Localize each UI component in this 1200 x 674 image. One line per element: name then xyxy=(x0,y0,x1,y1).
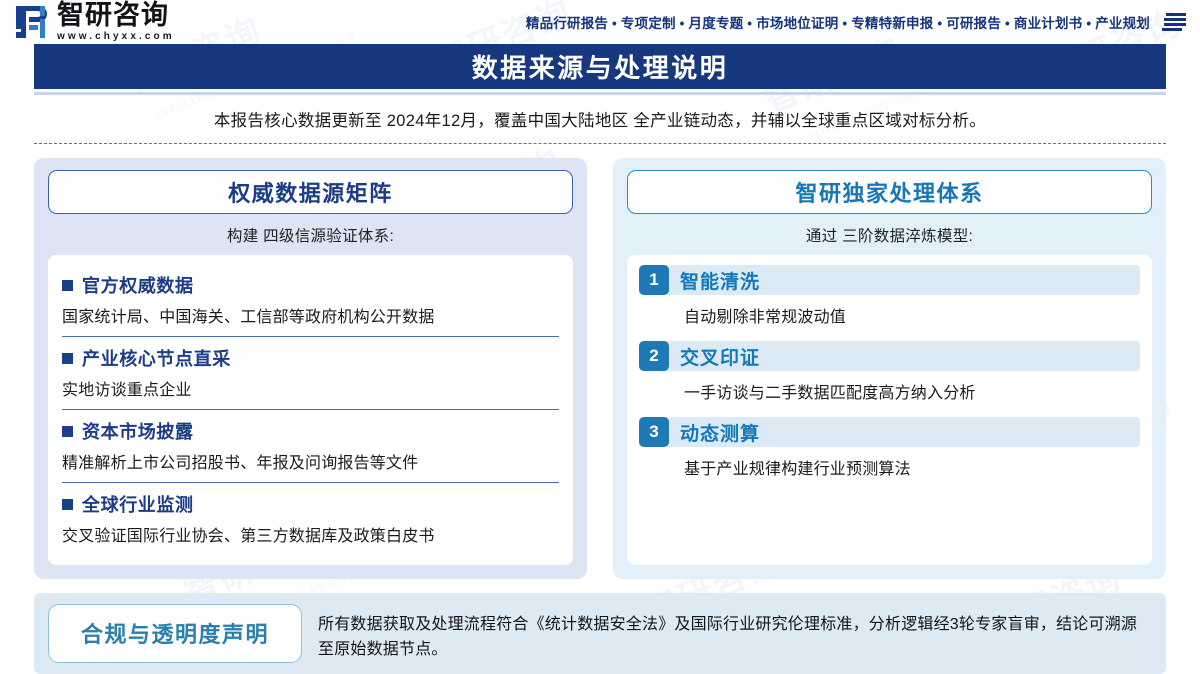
banner-underline xyxy=(34,92,1166,95)
step-desc: 自动剔除非常规波动值 xyxy=(684,303,1140,327)
list-item[interactable]: 2 交叉印证 一手访谈与二手数据匹配度高方纳入分析 xyxy=(639,341,1140,403)
list-item[interactable]: 全球行业监测 交叉验证国际行业协会、第三方数据库及政策白皮书 xyxy=(62,483,559,555)
list-item-header: 全球行业监测 xyxy=(62,491,559,517)
square-bullet-icon xyxy=(62,280,73,291)
service-tags: 精品行研报告 • 专项定制 • 月度专题 • 市场地位证明 • 专精特新申报 •… xyxy=(526,12,1150,32)
step-desc: 一手访谈与二手数据匹配度高方纳入分析 xyxy=(684,379,1140,403)
step-header: 2 交叉印证 xyxy=(639,341,1140,371)
left-panel-subtitle: 构建 四级信源验证体系: xyxy=(48,224,573,246)
page-title: 数据来源与处理说明 xyxy=(472,48,729,85)
list-item-title: 官方权威数据 xyxy=(82,272,194,298)
square-bullet-icon xyxy=(62,353,73,364)
page-subtitle: 本报告核心数据更新至 2024年12月，覆盖中国大陆地区 全产业链动态，并辅以全… xyxy=(34,107,1166,131)
stacked-layers-icon[interactable] xyxy=(1162,12,1186,32)
left-panel-title: 权威数据源矩阵 xyxy=(228,176,393,208)
step-number-badge: 1 xyxy=(639,265,669,295)
step-title: 智能清洗 xyxy=(680,267,760,294)
list-item-title: 产业核心节点直采 xyxy=(82,345,231,371)
brand-logo-text: 智研咨询 www.chyxx.com xyxy=(57,2,175,42)
step-header: 1 智能清洗 xyxy=(639,265,1140,295)
step-number-badge: 3 xyxy=(639,417,669,447)
list-item-title: 全球行业监测 xyxy=(82,491,194,517)
dashed-divider xyxy=(34,143,1166,144)
list-item-header: 产业核心节点直采 xyxy=(62,345,559,371)
left-panel-header: 权威数据源矩阵 xyxy=(48,170,573,214)
list-item-desc: 国家统计局、中国海关、工信部等政府机构公开数据 xyxy=(62,303,559,327)
list-item-title: 资本市场披露 xyxy=(82,418,194,444)
step-desc: 基于产业规律构建行业预测算法 xyxy=(684,455,1140,479)
step-title: 交叉印证 xyxy=(680,343,760,370)
right-panel-header: 智研独家处理体系 xyxy=(627,170,1152,214)
chyxx-p-logo-icon xyxy=(16,6,50,38)
list-item[interactable]: 3 动态测算 基于产业规律构建行业预测算法 xyxy=(639,417,1140,479)
list-item-desc: 交叉验证国际行业协会、第三方数据库及政策白皮书 xyxy=(62,522,559,546)
list-item[interactable]: 资本市场披露 精准解析上市公司招股书、年报及问询报告等文件 xyxy=(62,410,559,483)
top-bar: 智研咨询 www.chyxx.com 精品行研报告 • 专项定制 • 月度专题 … xyxy=(0,0,1200,44)
step-title: 动态测算 xyxy=(680,419,760,446)
data-source-list: 官方权威数据 国家统计局、中国海关、工信部等政府机构公开数据 产业核心节点直采 … xyxy=(48,255,573,565)
square-bullet-icon xyxy=(62,426,73,437)
compliance-text: 所有数据获取及处理流程符合《统计数据安全法》及国际行业研究伦理标准，分析逻辑经3… xyxy=(318,604,1152,663)
compliance-badge-label: 合规与透明度声明 xyxy=(81,617,269,649)
brand-url: www.chyxx.com xyxy=(57,32,175,42)
square-bullet-icon xyxy=(62,499,73,510)
right-panel-subtitle: 通过 三阶数据淬炼模型: xyxy=(627,224,1152,246)
step-number-badge: 2 xyxy=(639,341,669,371)
list-item[interactable]: 官方权威数据 国家统计局、中国海关、工信部等政府机构公开数据 xyxy=(62,264,559,337)
right-panel-title: 智研独家处理体系 xyxy=(795,176,983,208)
list-item[interactable]: 产业核心节点直采 实地访谈重点企业 xyxy=(62,337,559,410)
compliance-badge: 合规与透明度声明 xyxy=(48,604,302,663)
brand-logo[interactable]: 智研咨询 www.chyxx.com xyxy=(16,2,175,42)
list-item-desc: 精准解析上市公司招股书、年报及问询报告等文件 xyxy=(62,449,559,473)
page-title-banner: 数据来源与处理说明 xyxy=(34,44,1166,89)
brand-name: 智研咨询 xyxy=(57,2,175,29)
list-item-desc: 实地访谈重点企业 xyxy=(62,376,559,400)
main-content: 权威数据源矩阵 构建 四级信源验证体系: 官方权威数据 国家统计局、中国海关、工… xyxy=(34,158,1166,579)
list-item-header: 官方权威数据 xyxy=(62,272,559,298)
list-item-header: 资本市场披露 xyxy=(62,418,559,444)
step-header: 3 动态测算 xyxy=(639,417,1140,447)
compliance-statement: 合规与透明度声明 所有数据获取及处理流程符合《统计数据安全法》及国际行业研究伦理… xyxy=(34,593,1166,674)
processing-step-list: 1 智能清洗 自动剔除非常规波动值 2 交叉印证 一手访谈与二手数据匹配度高方纳… xyxy=(627,255,1152,565)
list-item[interactable]: 1 智能清洗 自动剔除非常规波动值 xyxy=(639,265,1140,327)
panel-data-sources: 权威数据源矩阵 构建 四级信源验证体系: 官方权威数据 国家统计局、中国海关、工… xyxy=(34,158,587,579)
panel-processing-system: 智研独家处理体系 通过 三阶数据淬炼模型: 1 智能清洗 自动剔除非常规波动值 … xyxy=(613,158,1166,579)
